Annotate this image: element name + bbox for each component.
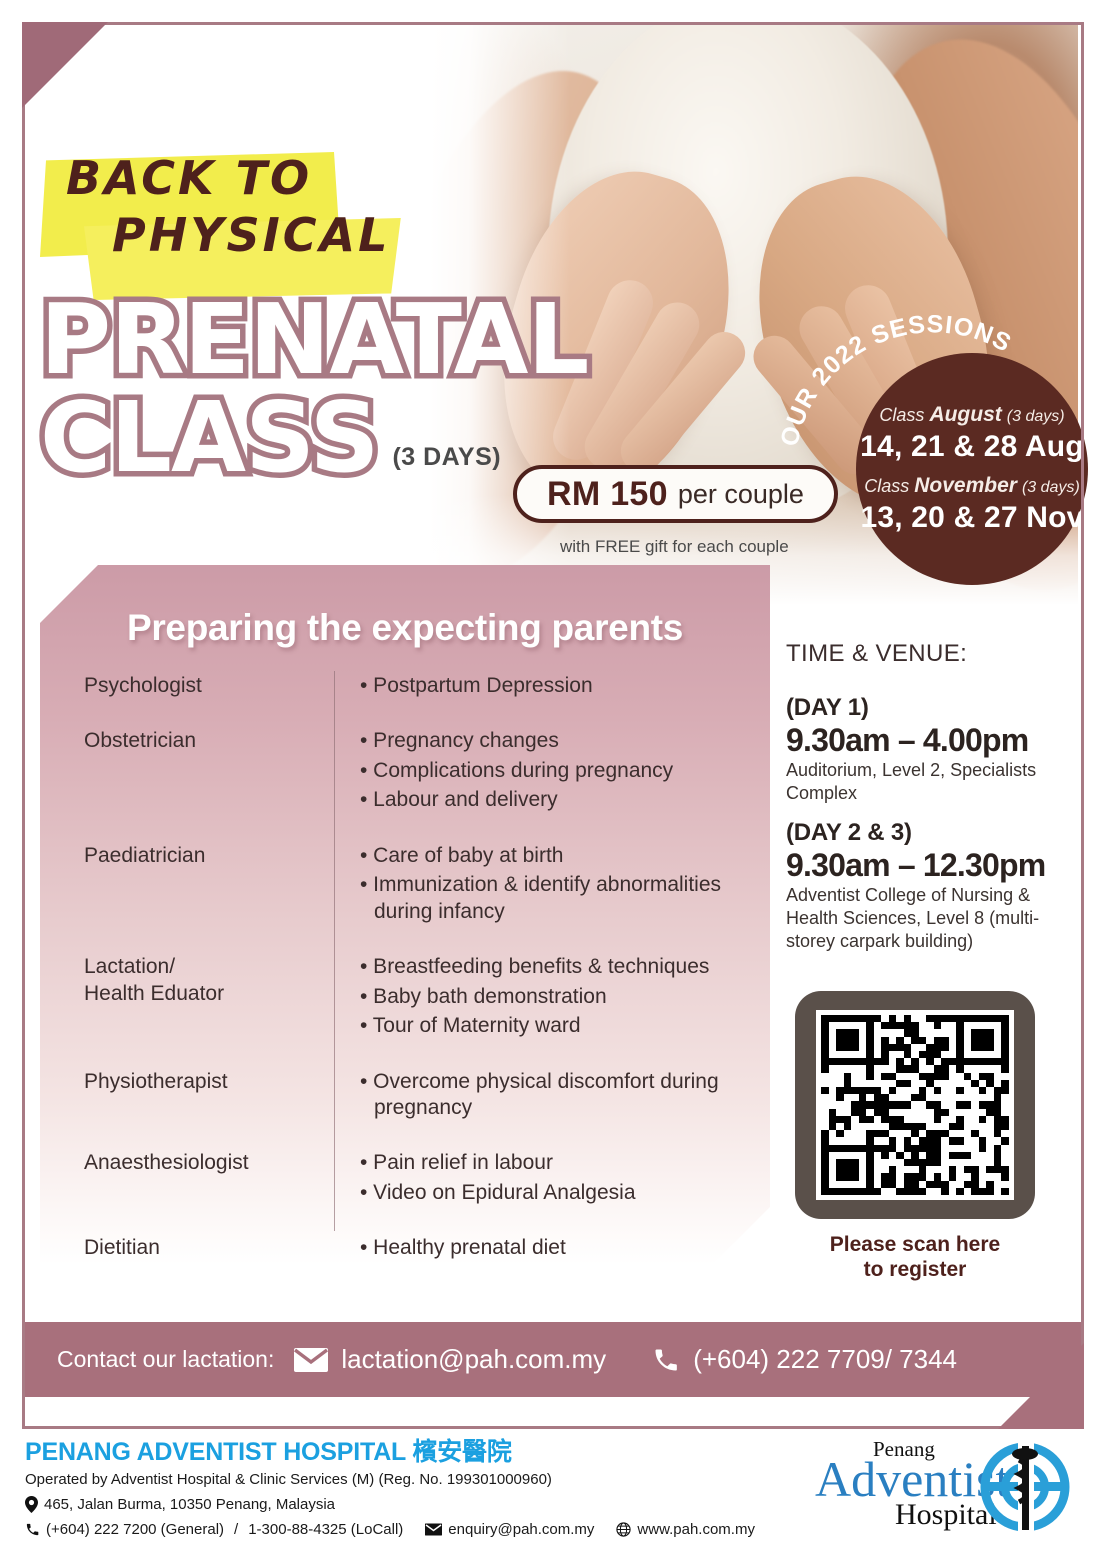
- corner-triangle-top-left: [22, 22, 108, 108]
- time-venue-section: TIME & VENUE: (DAY 1) 9.30am – 4.00pm Au…: [786, 640, 1061, 966]
- poster: BACK TO PHYSICAL PRENATAL CLASS (3 DAYS)…: [0, 0, 1106, 1563]
- envelope-icon: [425, 1523, 442, 1536]
- time-venue-heading: TIME & VENUE:: [786, 640, 1061, 668]
- row-topic-item: • Pain relief in labour: [360, 1150, 748, 1176]
- row-topic-item: • Overcome physical discomfort during pr…: [360, 1069, 748, 1122]
- footer-website: www.pah.com.my: [637, 1521, 755, 1538]
- hospital-name-cn: 檳安醫院: [412, 1437, 511, 1466]
- hospital-logo: Penang Adventist Hospital: [813, 1430, 1073, 1542]
- row-role: Psychologist: [84, 673, 334, 702]
- duration-note: (3 DAYS): [392, 443, 501, 484]
- footer-email: enquiry@pah.com.my: [448, 1521, 594, 1538]
- row-topics: • Healthy prenatal diet: [334, 1235, 748, 1264]
- row-role: Obstetrician: [84, 728, 334, 816]
- title-line-2: CLASS: [40, 392, 378, 484]
- headline-block: BACK TO PHYSICAL PRENATAL CLASS (3 DAYS): [40, 140, 588, 484]
- session-month-2: November: [914, 474, 1017, 497]
- footer-separator: /: [234, 1521, 238, 1538]
- session-duration-2: (3 days): [1022, 479, 1080, 496]
- table-row: Psychologist• Postpartum Depression: [84, 673, 748, 702]
- hospital-name-en: PENANG ADVENTIST HOSPITAL: [25, 1438, 406, 1466]
- kicker-line-2: PHYSICAL: [66, 207, 390, 264]
- session-label-august: Class August (3 days): [879, 402, 1064, 428]
- footer-address: 465, Jalan Burma, 10350 Penang, Malaysia: [44, 1496, 335, 1513]
- day-place-2: Adventist College of Nursing & Health Sc…: [786, 884, 1061, 952]
- session-month-1: August: [929, 403, 1001, 426]
- title-line-1: PRENATAL: [40, 294, 588, 386]
- contact-label: Contact our lactation:: [57, 1346, 274, 1373]
- row-topic-item: • Video on Epidural Analgesia: [360, 1180, 748, 1206]
- phone-icon: [25, 1522, 40, 1537]
- row-topic-item: • Healthy prenatal diet: [360, 1235, 748, 1261]
- envelope-icon: [294, 1348, 328, 1372]
- row-topic-item: • Labour and delivery: [360, 787, 748, 813]
- qr-caption-line-2: to register: [760, 1257, 1070, 1282]
- table-row: Anaesthesiologist• Pain relief in labour…: [84, 1150, 748, 1209]
- footer-phone-locall: 1-300-88-4325 (LoCall): [248, 1521, 403, 1538]
- curriculum-panel: Preparing the expecting parents Psycholo…: [40, 565, 770, 1265]
- row-topics: • Pain relief in labour• Video on Epidur…: [334, 1150, 748, 1209]
- phone-icon: [652, 1346, 680, 1374]
- row-topics: • Postpartum Depression: [334, 673, 748, 702]
- qr-matrix: [821, 1015, 1009, 1195]
- row-role: Anaesthesiologist: [84, 1150, 334, 1209]
- time-venue-block-2: (DAY 2 & 3) 9.30am – 12.30pm Adventist C…: [786, 819, 1061, 952]
- curriculum-table: Psychologist• Postpartum DepressionObste…: [84, 673, 748, 1253]
- price-unit: per couple: [678, 479, 804, 510]
- row-topic-item: • Postpartum Depression: [360, 673, 748, 699]
- table-row: Lactation/Health Eduator• Breastfeeding …: [84, 954, 748, 1042]
- contact-email[interactable]: lactation@pah.com.my: [341, 1344, 606, 1375]
- footer: PENANG ADVENTIST HOSPITAL 檳安醫院 Operated …: [25, 1432, 1081, 1538]
- row-role: Paediatrician: [84, 843, 334, 928]
- row-role: Dietitian: [84, 1235, 334, 1264]
- highlight-badge: BACK TO PHYSICAL: [40, 140, 416, 280]
- time-venue-block-1: (DAY 1) 9.30am – 4.00pm Auditorium, Leve…: [786, 694, 1061, 805]
- price-badge: RM 150 per couple: [513, 465, 838, 523]
- session-prefix-1: Class: [879, 405, 924, 425]
- row-topics: • Breastfeeding benefits & techniques• B…: [334, 954, 748, 1042]
- table-row: Dietitian• Healthy prenatal diet: [84, 1235, 748, 1264]
- qr-caption: Please scan here to register: [760, 1232, 1070, 1282]
- day-place-1: Auditorium, Level 2, Specialists Complex: [786, 759, 1061, 804]
- row-topic-item: • Tour of Maternity ward: [360, 1013, 748, 1039]
- row-topic-item: • Immunization & identify abnormalities …: [360, 872, 748, 925]
- svg-text:Hospital: Hospital: [895, 1498, 997, 1531]
- row-topic-item: • Care of baby at birth: [360, 843, 748, 869]
- row-topics: • Care of baby at birth• Immunization & …: [334, 843, 748, 928]
- row-role: Physiotherapist: [84, 1069, 334, 1125]
- table-divider: [334, 671, 335, 1231]
- footer-phone-general: (+604) 222 7200 (General): [46, 1521, 224, 1538]
- day-time-2: 9.30am – 12.30pm: [786, 847, 1061, 883]
- day-label-2: (DAY 2 & 3): [786, 819, 1061, 847]
- session-label-november: Class November (3 days): [864, 473, 1080, 499]
- contact-email-group[interactable]: lactation@pah.com.my: [294, 1344, 606, 1375]
- contact-phone[interactable]: (+604) 222 7709/ 7344: [693, 1344, 957, 1375]
- sessions-circle: Class August (3 days) 14, 21 & 28 Aug Cl…: [856, 353, 1088, 585]
- row-topic-item: • Complications during pregnancy: [360, 758, 748, 784]
- day-time-1: 9.30am – 4.00pm: [786, 722, 1061, 758]
- session-prefix-2: Class: [864, 476, 909, 496]
- kicker-line-1: BACK TO: [66, 150, 390, 207]
- row-role: Lactation/Health Eduator: [84, 954, 334, 1042]
- qr-code[interactable]: [795, 991, 1035, 1219]
- row-topics: • Overcome physical discomfort during pr…: [334, 1069, 748, 1125]
- contact-bar: Contact our lactation: lactation@pah.com…: [25, 1322, 1081, 1397]
- row-topic-item: • Breastfeeding benefits & techniques: [360, 954, 748, 980]
- globe-icon: [616, 1522, 631, 1537]
- day-label-1: (DAY 1): [786, 694, 1061, 722]
- location-pin-icon: [25, 1496, 38, 1513]
- row-topic-item: • Pregnancy changes: [360, 728, 748, 754]
- session-dates-november: 13, 20 & 27 Nov: [860, 500, 1083, 536]
- table-row: Physiotherapist• Overcome physical disco…: [84, 1069, 748, 1125]
- contact-phone-group[interactable]: (+604) 222 7709/ 7344: [652, 1344, 957, 1375]
- price-note: with FREE gift for each couple: [560, 537, 789, 557]
- price-amount: RM 150: [547, 475, 668, 514]
- session-duration-1: (3 days): [1007, 408, 1065, 425]
- session-dates-august: 14, 21 & 28 Aug: [860, 429, 1084, 465]
- row-topic-item: • Baby bath demonstration: [360, 984, 748, 1010]
- table-row: Paediatrician• Care of baby at birth• Im…: [84, 843, 748, 928]
- qr-caption-line-1: Please scan here: [760, 1232, 1070, 1257]
- table-row: Obstetrician• Pregnancy changes• Complic…: [84, 728, 748, 816]
- row-topics: • Pregnancy changes• Complications durin…: [334, 728, 748, 816]
- panel-title: Preparing the expecting parents: [40, 607, 770, 649]
